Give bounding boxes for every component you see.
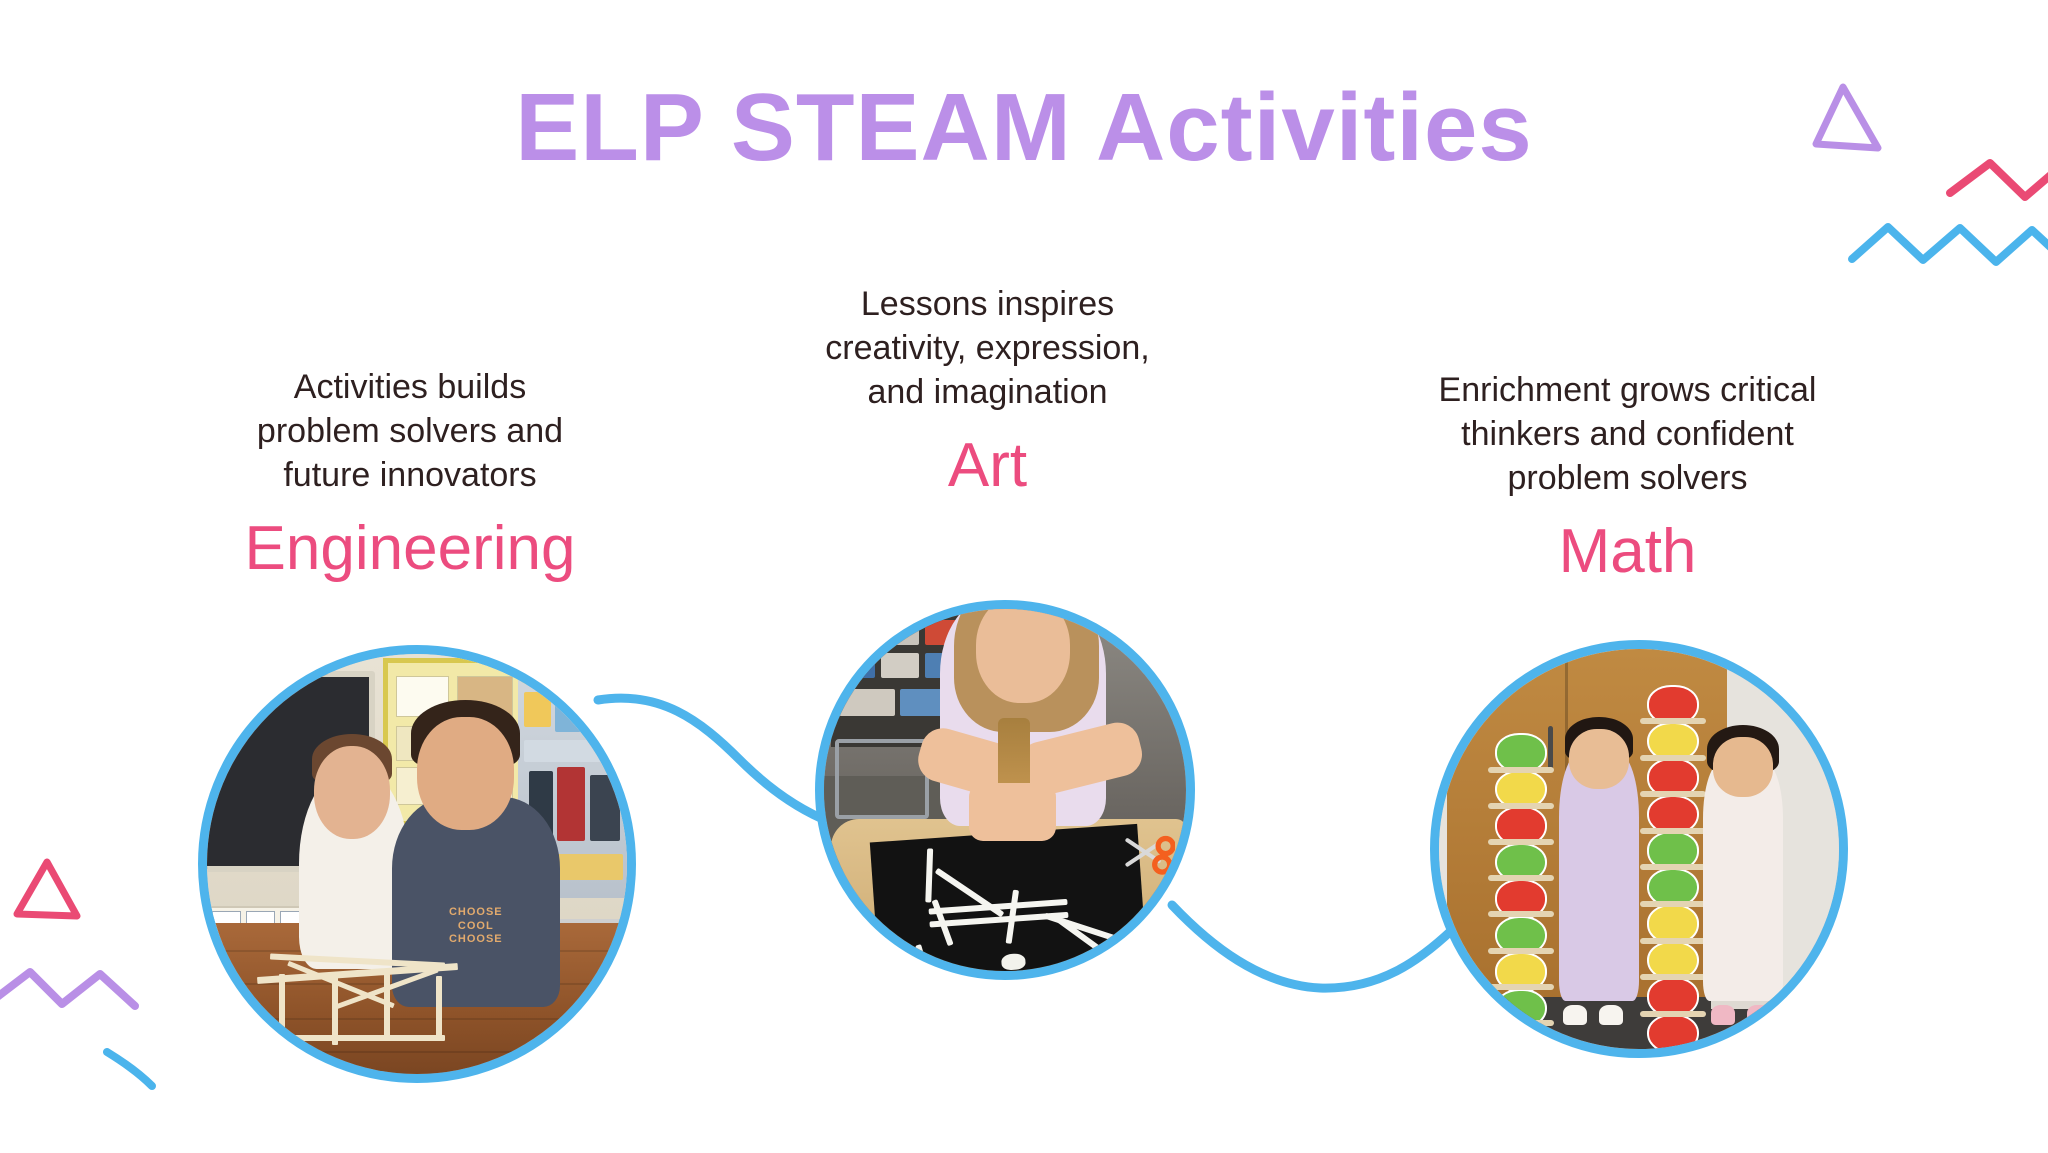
column-math: Enrichment grows critical thinkers and c… [1355, 368, 1900, 588]
apple-chain-left [1495, 737, 1547, 1058]
caption-engineering: Activities builds problem solvers and fu… [150, 365, 670, 498]
supply-item [555, 688, 583, 732]
child-girl-left-face [1569, 729, 1629, 789]
cotton-swab [924, 848, 932, 902]
black-construction-paper [869, 824, 1147, 980]
child-hands [969, 783, 1056, 841]
clothespin [1640, 938, 1707, 944]
photo-engineering-scene: CHOOSE COOL CHOOSE [207, 654, 627, 1074]
child-girl-face [314, 746, 390, 838]
photo-engineering: CHOOSE COOL CHOOSE [198, 645, 636, 1083]
cabinet-handle [1548, 726, 1553, 772]
child-girl-left-dress [1559, 753, 1639, 1001]
child-shoe [1711, 1005, 1735, 1025]
clothespin [1488, 803, 1555, 809]
storage-bin [881, 617, 920, 645]
clothespin [1488, 839, 1555, 845]
supply-item [524, 692, 550, 727]
scissors-icon [1117, 833, 1175, 876]
photo-math-scene [1439, 649, 1839, 1049]
cotton-swab [1050, 913, 1127, 971]
storage-bin [839, 689, 894, 717]
clothespin [1488, 984, 1555, 990]
child-girl-right-top [1703, 761, 1783, 1001]
storage-bin [839, 620, 875, 645]
child-shoe [1599, 1005, 1623, 1025]
storage-bin [839, 653, 875, 678]
clothespin [1488, 911, 1555, 917]
caption-math: Enrichment grows critical thinkers and c… [1355, 368, 1900, 501]
clothespin [1488, 767, 1555, 773]
heading-art: Art [760, 429, 1215, 502]
caption-art: Lessons inspires creativity, expression,… [760, 282, 1215, 415]
clothespin [1488, 875, 1555, 881]
skull-cutout [1001, 953, 1026, 971]
clothespin [1488, 1020, 1555, 1026]
structure-stick [279, 974, 285, 1039]
photo-art-scene [824, 609, 1186, 971]
clothespin [1640, 901, 1707, 907]
clothespin [1640, 974, 1707, 980]
photo-math [1430, 640, 1848, 1058]
structure-stick [275, 1035, 445, 1041]
photo-art [815, 600, 1195, 980]
child-shoe [1563, 1005, 1587, 1025]
paper-apple [1647, 1014, 1699, 1055]
toothpick-structure [257, 952, 475, 1053]
clothespin [1640, 828, 1707, 834]
supply-item [557, 767, 585, 841]
child-shoe [1747, 1005, 1771, 1025]
connector-engineering-to-art [598, 698, 830, 822]
supply-item [588, 692, 621, 727]
supply-item [590, 775, 621, 841]
shirt-text: CHOOSE COOL CHOOSE [434, 906, 518, 947]
apple-chain-right [1647, 689, 1699, 1054]
column-art: Lessons inspires creativity, expression,… [760, 282, 1215, 502]
connector-art-to-math [1172, 905, 1452, 988]
child-boy-face [417, 717, 514, 830]
clothespin [1640, 1011, 1707, 1017]
supply-item [524, 740, 620, 762]
storage-bin [881, 653, 920, 678]
child-girl-right-face [1713, 737, 1773, 797]
heading-engineering: Engineering [150, 512, 670, 585]
clothespin [1640, 791, 1707, 797]
column-engineering: Activities builds problem solvers and fu… [150, 365, 670, 585]
heading-math: Math [1355, 515, 1900, 588]
structure-stick [436, 976, 442, 1036]
child-girl-face [976, 600, 1070, 703]
classroom-chair [835, 739, 929, 819]
clothespin [1488, 948, 1555, 954]
clothespin [1640, 718, 1707, 724]
slide-canvas: ELP STEAM Activities Activities builds p… [0, 0, 2048, 1153]
clothespin [1640, 864, 1707, 870]
clothespin [1640, 755, 1707, 761]
